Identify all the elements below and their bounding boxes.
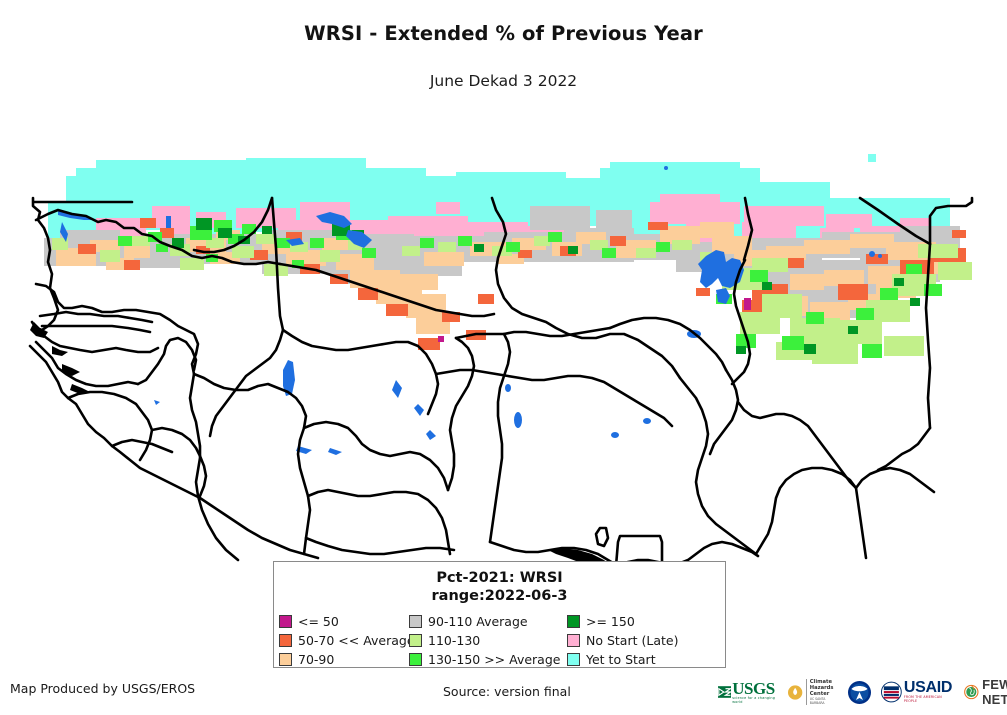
noaa-seal-icon xyxy=(847,680,872,705)
legend-title-line1: Pct-2021: WRSI xyxy=(274,569,725,587)
page-subtitle: June Dekad 3 2022 xyxy=(0,72,1007,90)
fews-globe-icon xyxy=(964,681,979,703)
legend-item: 110-130 xyxy=(409,631,567,649)
legend-items: <= 50 50-70 << Average 70-90 90-110 Aver… xyxy=(279,612,722,669)
legend-column-2: 90-110 Average 110-130 130-150 >> Averag… xyxy=(409,612,567,669)
legend-item-label: Yet to Start xyxy=(586,653,656,666)
usgs-logo-text: USGS xyxy=(732,681,777,696)
legend-item-label: 70-90 xyxy=(298,653,334,666)
legend-swatch xyxy=(409,653,422,666)
legend-item: >= 150 xyxy=(567,612,717,630)
usaid-seal-icon xyxy=(881,681,902,703)
usgs-wave-icon xyxy=(718,684,731,700)
legend-item-label: No Start (Late) xyxy=(586,634,678,647)
usgs-logo-subtext: science for a changing world xyxy=(732,696,777,704)
legend-item-label: >= 150 xyxy=(586,615,635,628)
legend-item: 70-90 xyxy=(279,650,409,668)
usaid-logo-subtext: FROM THE AMERICAN PEOPLE xyxy=(904,695,954,703)
legend-swatch xyxy=(279,615,292,628)
fews-net-text: FEWS NET xyxy=(982,677,1007,707)
legend-title: Pct-2021: WRSI range:2022-06-3 xyxy=(274,569,725,605)
producer-credit: Map Produced by USGS/EROS xyxy=(10,681,195,696)
noaa-logo xyxy=(847,680,872,705)
usgs-logo: USGS science for a changing world xyxy=(718,681,777,704)
legend-column-3: >= 150 No Start (Late) Yet to Start xyxy=(567,612,717,669)
legend-title-line2: range:2022-06-3 xyxy=(274,587,725,605)
map-legend: Pct-2021: WRSI range:2022-06-3 <= 50 50-… xyxy=(273,561,726,668)
legend-item: No Start (Late) xyxy=(567,631,717,649)
legend-swatch xyxy=(409,634,422,647)
logo-strip: USGS science for a changing world Climat… xyxy=(718,676,1007,708)
legend-item-label: 110-130 xyxy=(428,634,480,647)
map-canvas[interactable] xyxy=(0,98,1007,566)
usaid-logo: USAID FROM THE AMERICAN PEOPLE xyxy=(881,681,953,703)
map-page: WRSI - Extended % of Previous Year June … xyxy=(0,0,1007,715)
legend-item: 130-150 >> Average xyxy=(409,650,567,668)
chc-subtext: UC SANTA BARBARA xyxy=(810,697,836,705)
legend-item-label: 90-110 Average xyxy=(428,615,528,628)
usaid-logo-text: USAID xyxy=(904,681,954,695)
legend-swatch xyxy=(409,615,422,628)
legend-item: <= 50 xyxy=(279,612,409,630)
legend-swatch xyxy=(279,634,292,647)
legend-column-1: <= 50 50-70 << Average 70-90 xyxy=(279,612,409,669)
legend-swatch xyxy=(279,653,292,666)
fews-net-logo: FEWS NET xyxy=(964,677,1007,707)
legend-swatch xyxy=(567,615,580,628)
legend-item: Yet to Start xyxy=(567,650,717,668)
chc-droplet-icon xyxy=(788,684,802,701)
legend-swatch xyxy=(567,634,580,647)
legend-item: 50-70 << Average xyxy=(279,631,409,649)
page-title: WRSI - Extended % of Previous Year xyxy=(0,22,1007,45)
source-credit: Source: version final xyxy=(443,684,571,699)
climate-hazards-center-logo: Climate Hazards Center UC SANTA BARBARA xyxy=(788,679,836,705)
legend-item: 90-110 Average xyxy=(409,612,567,630)
legend-swatch xyxy=(567,653,580,666)
legend-item-label: 130-150 >> Average xyxy=(428,653,560,666)
legend-item-label: 50-70 << Average xyxy=(298,634,415,647)
legend-item-label: <= 50 xyxy=(298,615,339,628)
